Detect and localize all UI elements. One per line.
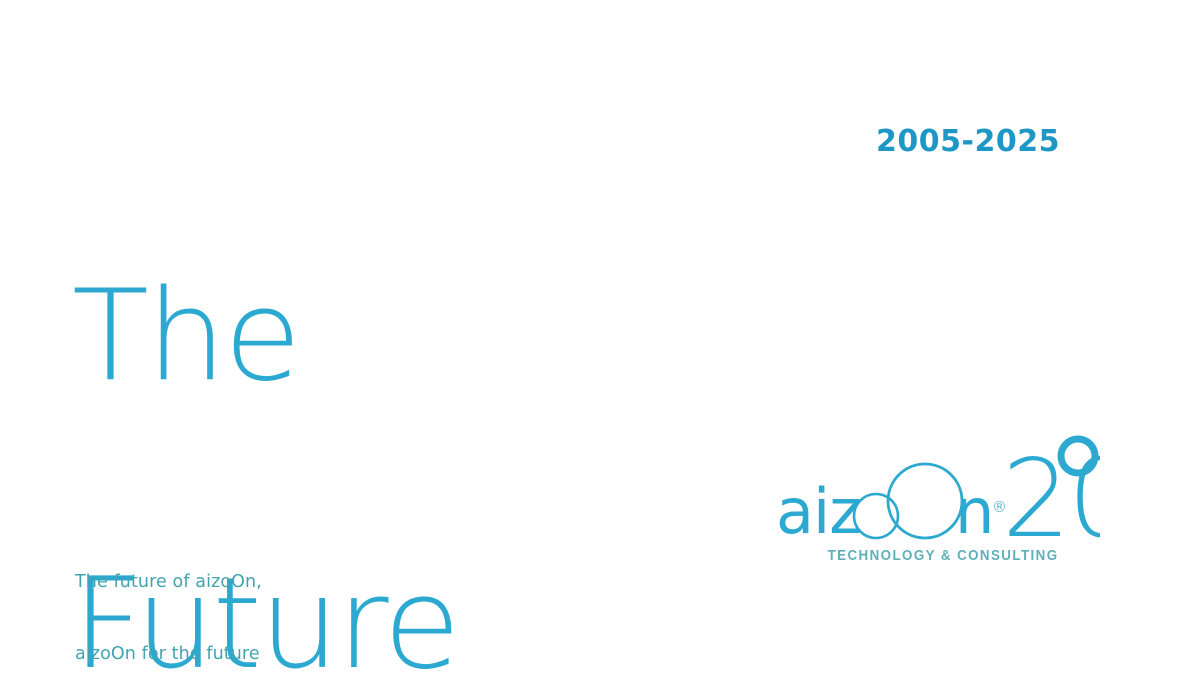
subtitle-line-2: aizoOn for the future <box>75 642 262 666</box>
slide-canvas: The Future is in our history The future … <box>0 0 1200 675</box>
logo-lockup: aiz n ® 20 TECHNOLOGY & CONSULTING <box>770 428 1100 578</box>
logo-circle-large-icon <box>888 464 962 538</box>
headline-line-1: The <box>72 288 554 384</box>
logo-wordmark-prefix: aiz <box>776 475 861 548</box>
logo-anniversary-number: 20 <box>1002 437 1100 562</box>
logo-tagline: TECHNOLOGY & CONSULTING <box>828 548 1049 564</box>
page-subtitle: The future of aizoOn, aizoOn for the fut… <box>75 522 262 675</box>
subtitle-line-1: The future of aizoOn, <box>75 570 262 594</box>
logo-wordmark-suffix: n <box>955 475 994 548</box>
anniversary-years: 2005-2025 <box>876 124 1060 159</box>
